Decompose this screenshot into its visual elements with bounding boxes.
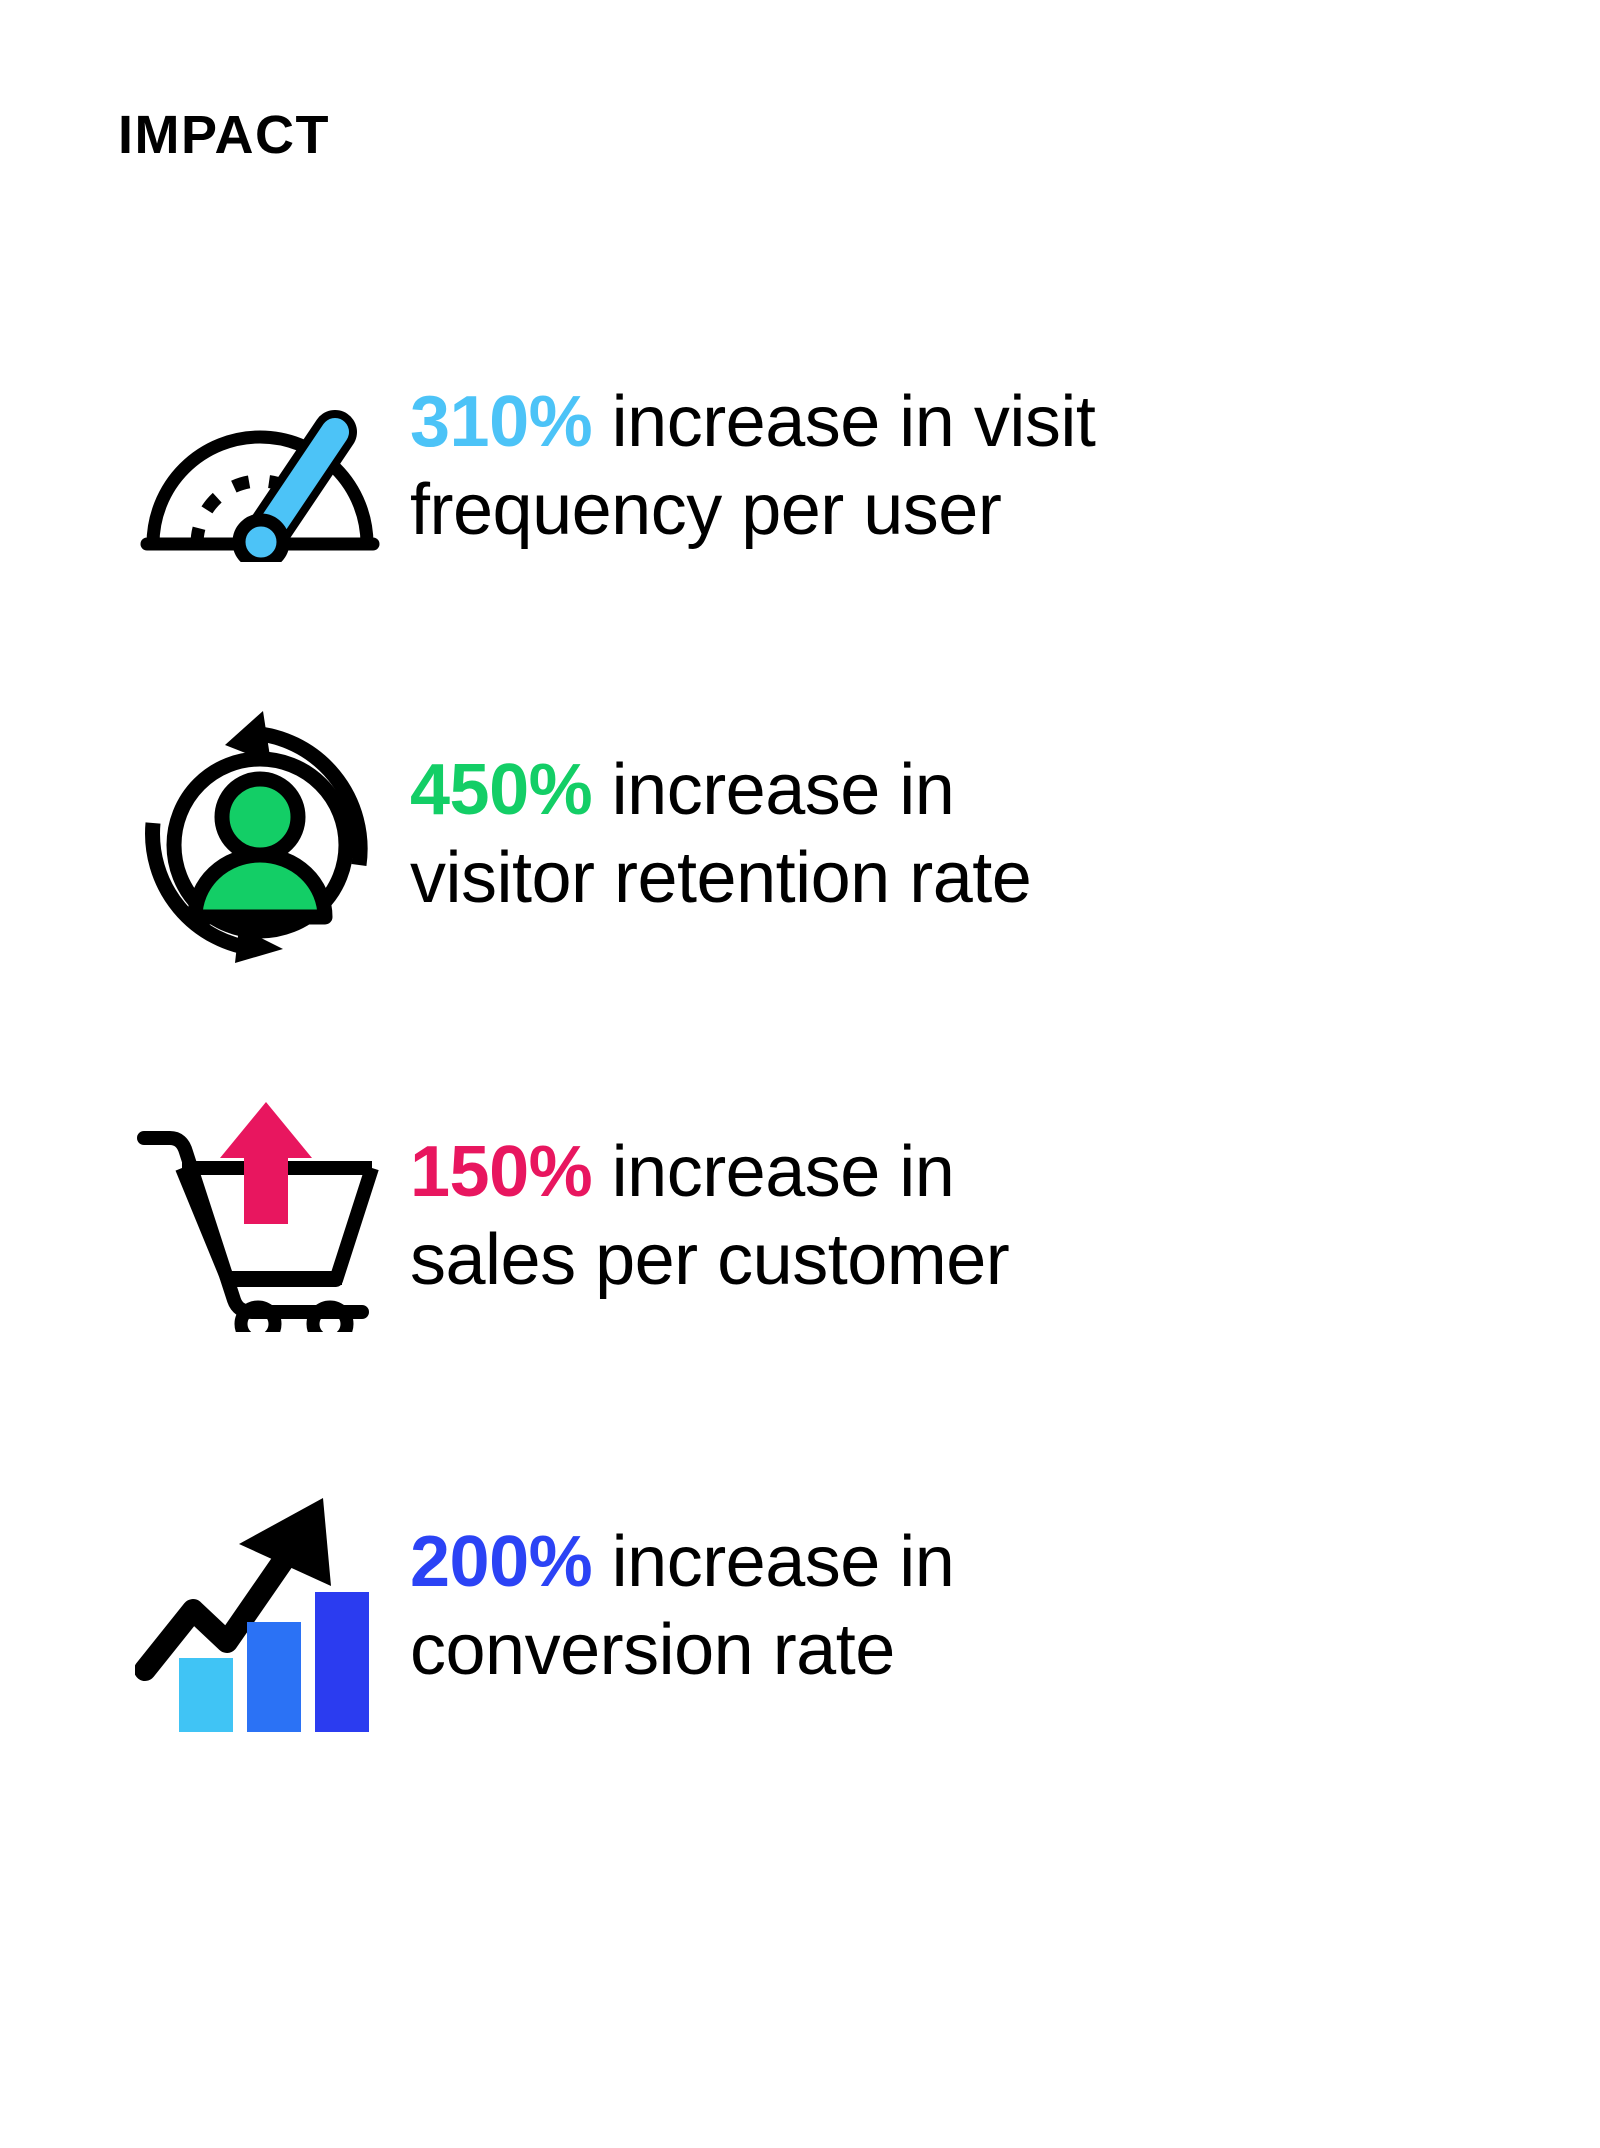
- stat-line2: conversion rate: [410, 1610, 895, 1690]
- stat-line2: sales per customer: [410, 1220, 1009, 1300]
- stats-list: 310% increase in visit frequency per use…: [0, 300, 1600, 1774]
- shopping-cart-up-arrow-icon: [110, 1102, 410, 1332]
- stat-text: 150% increase in sales per customer: [410, 1129, 1600, 1305]
- stat-line1-rest: increase in: [592, 1522, 954, 1602]
- stat-value: 310%: [410, 382, 592, 462]
- speedometer-gauge-icon: [110, 372, 410, 562]
- stat-value: 450%: [410, 750, 592, 830]
- stat-line2: visitor retention rate: [410, 838, 1031, 918]
- stat-row: 310% increase in visit frequency per use…: [0, 300, 1600, 634]
- user-retention-cycle-icon: [110, 705, 410, 965]
- page-title: IMPACT: [118, 108, 330, 162]
- growth-bar-chart-icon: [110, 1482, 410, 1732]
- stat-value: 150%: [410, 1132, 592, 1212]
- stat-line1-rest: increase in: [592, 1132, 954, 1212]
- impact-card: IMPACT: [0, 0, 1600, 2148]
- stat-row: 150% increase in sales per customer: [0, 1050, 1600, 1384]
- stat-value: 200%: [410, 1522, 592, 1602]
- stat-line1-rest: increase in: [592, 750, 954, 830]
- stat-row: 200% increase in conversion rate: [0, 1440, 1600, 1774]
- stat-line2: frequency per user: [410, 470, 1001, 550]
- stat-line1-rest: increase in visit: [592, 382, 1095, 462]
- stat-text: 200% increase in conversion rate: [410, 1519, 1600, 1695]
- stat-row: 450% increase in visitor retention rate: [0, 668, 1600, 1002]
- stat-text: 450% increase in visitor retention rate: [410, 747, 1600, 923]
- stat-text: 310% increase in visit frequency per use…: [410, 379, 1600, 555]
